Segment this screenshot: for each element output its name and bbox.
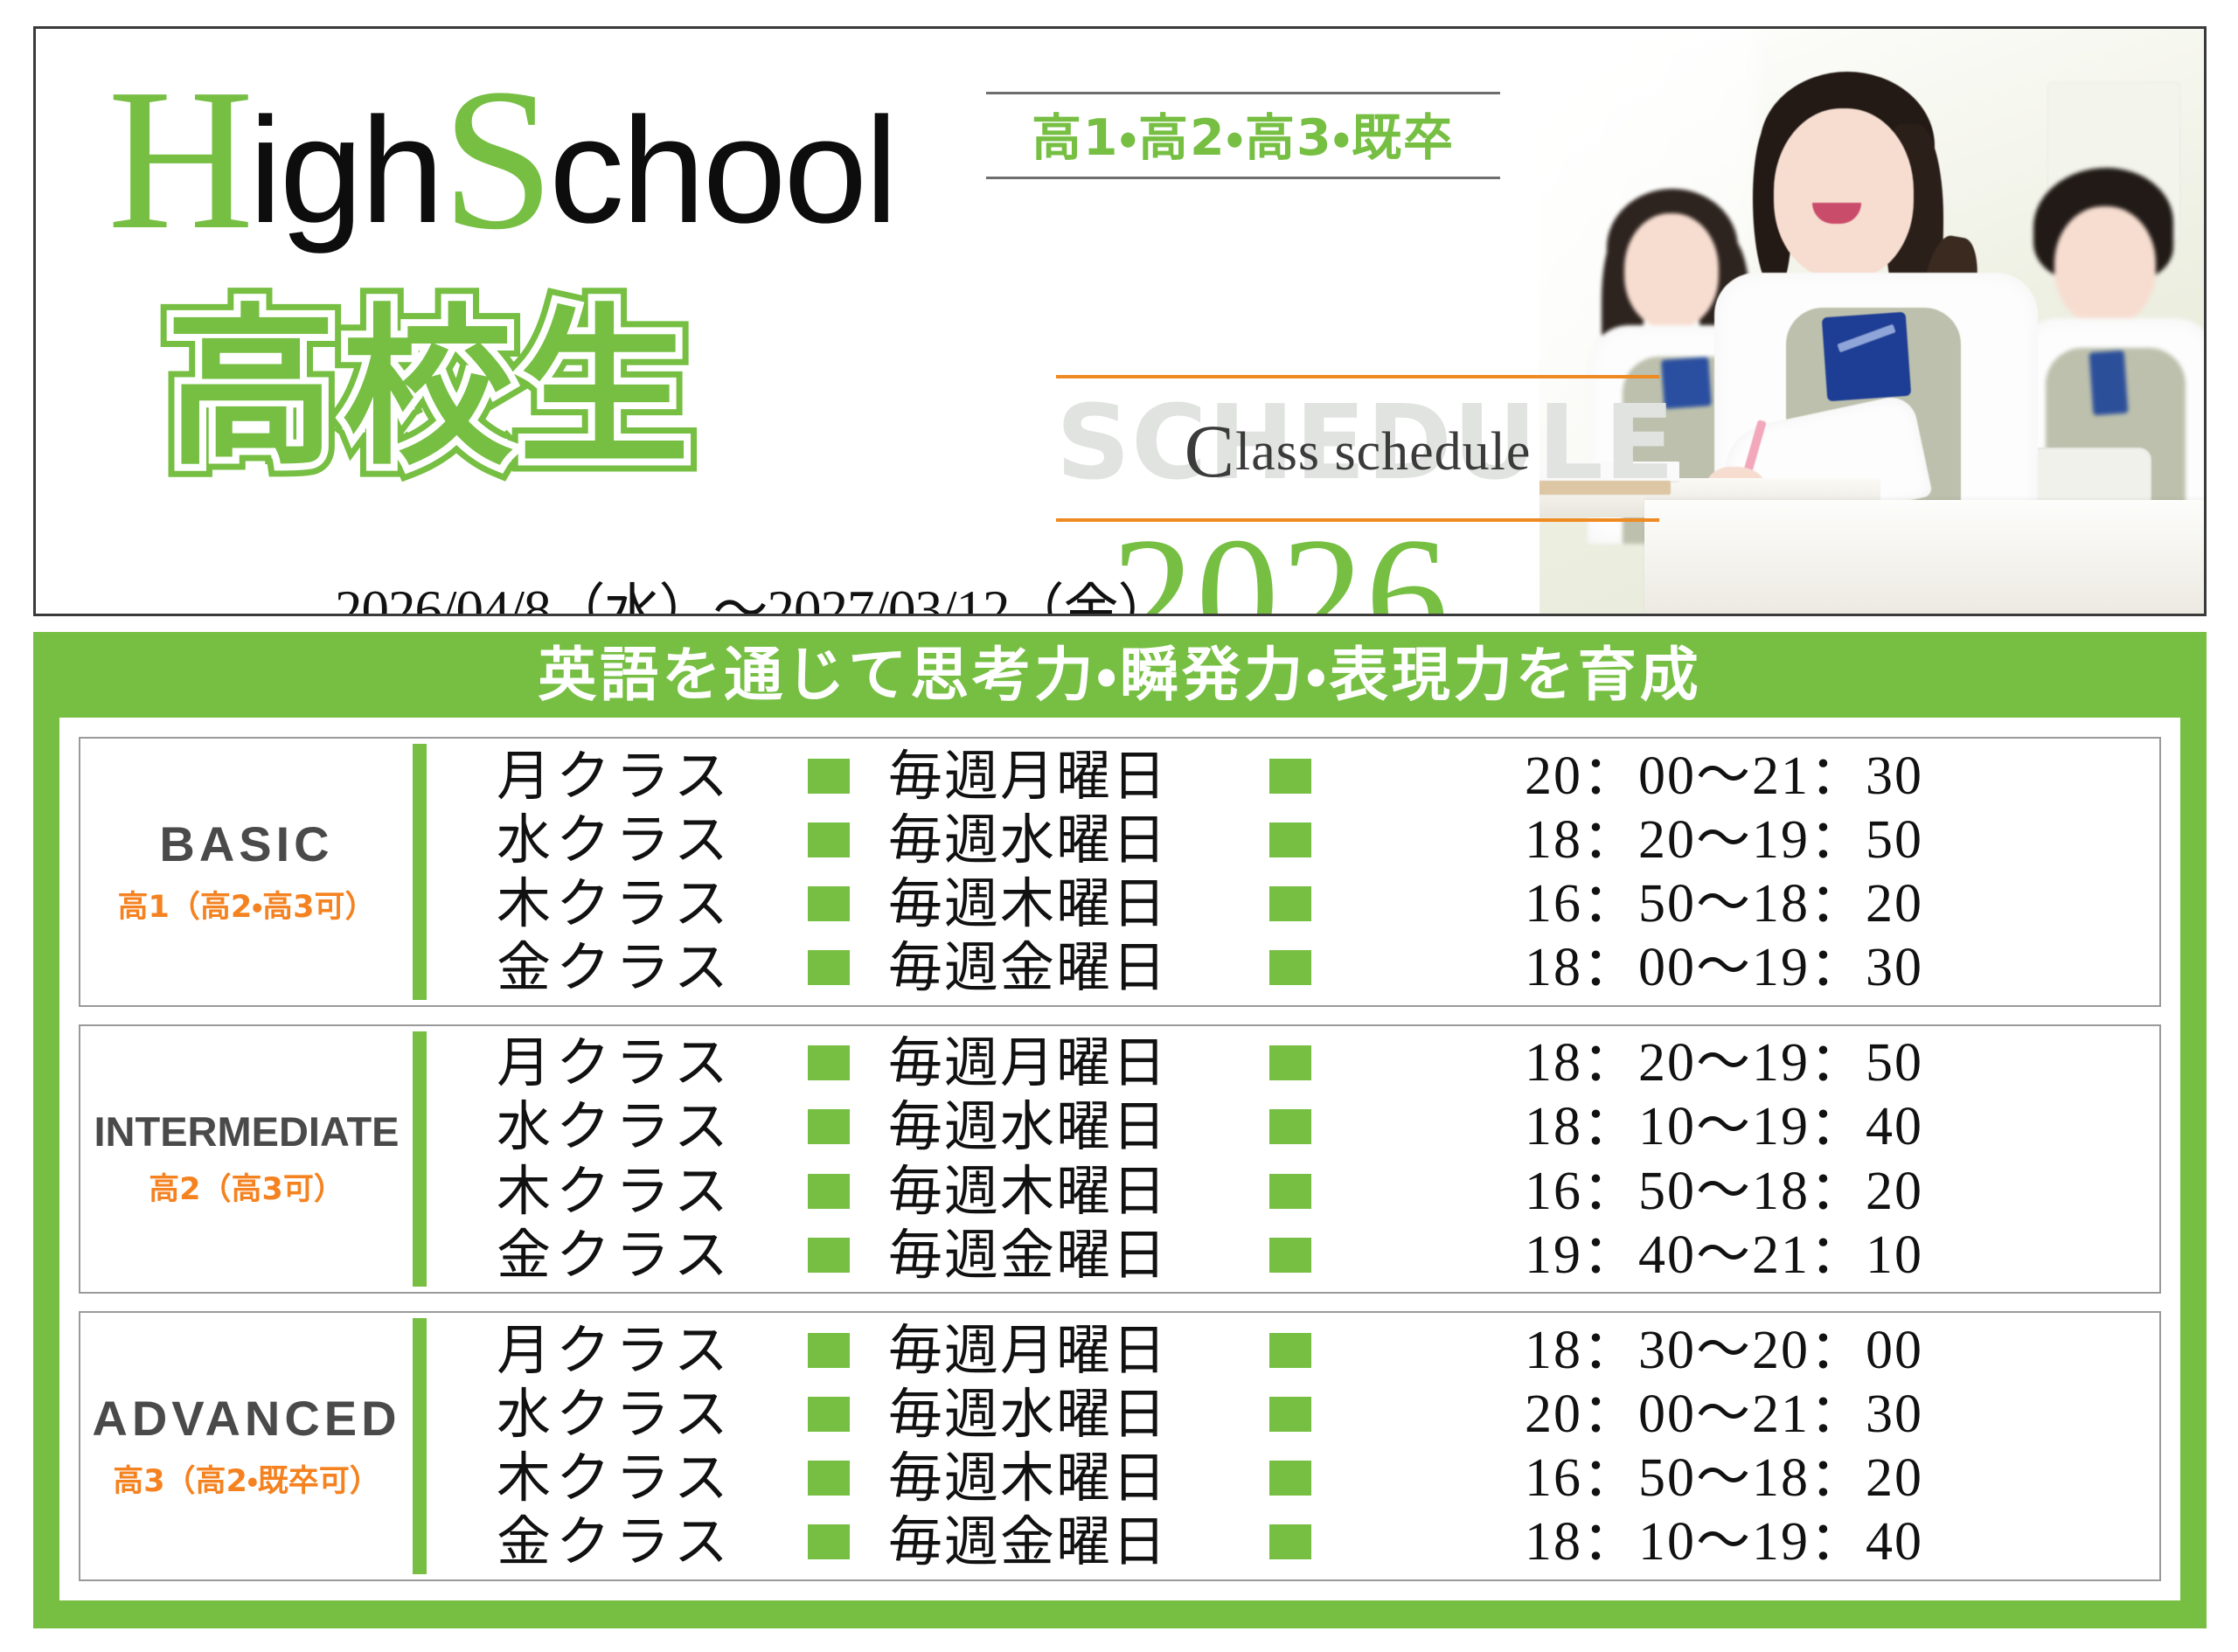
class-name-cell: 金クラス — [497, 1515, 794, 1569]
green-square-icon — [808, 886, 850, 921]
green-square-icon — [808, 1461, 850, 1496]
schedule-row: 水クラス毎週水曜日18：20〜19：50 — [427, 808, 2159, 871]
weekday-cell: 毎週木曜日 — [888, 1164, 1255, 1218]
desk-front — [1644, 500, 2204, 614]
level-eligibility: 高2（高3可） — [149, 1164, 344, 1209]
page-title: HighSchool — [108, 59, 895, 261]
weekday-cell: 毎週水曜日 — [888, 1100, 1255, 1154]
time-cell: 16：50〜18：20 — [1350, 1451, 2159, 1505]
time-cell: 18：10〜19：40 — [1350, 1100, 2159, 1154]
level-card: INTERMEDIATE高2（高3可）月クラス毎週月曜日18：20〜19：50水… — [79, 1024, 2161, 1295]
class-schedule-text: Class schedule — [1056, 413, 1659, 489]
level-header: INTERMEDIATE高2（高3可） — [80, 1026, 413, 1293]
class-name-cell: 金クラス — [497, 1228, 794, 1282]
ribbon-tie — [1822, 312, 1911, 401]
green-square-icon — [808, 1333, 850, 1368]
green-square-icon — [1269, 1045, 1311, 1080]
schedule-row: 木クラス毎週木曜日16：50〜18：20 — [427, 871, 2159, 935]
grade-tag-label: 高1・高2・高3・既卒 — [1032, 109, 1455, 167]
level-header: BASIC高1（高2・高3可） — [80, 739, 413, 1005]
time-cell: 18：20〜19：50 — [1350, 1036, 2159, 1090]
level-card: ADVANCED高3（高2・既卒可）月クラス毎週月曜日18：30〜20：00水ク… — [79, 1311, 2161, 1581]
title-igh: igh — [249, 87, 442, 254]
green-square-icon — [1269, 886, 1311, 921]
time-cell: 20：00〜21：30 — [1350, 749, 2159, 803]
level-name: BASIC — [159, 817, 333, 871]
face — [2054, 206, 2156, 325]
tagline-text: 英語を通じて思考力・瞬発力・表現力を育成 — [538, 646, 1702, 705]
face — [1624, 213, 1719, 329]
classroom-photo — [1539, 29, 2204, 614]
time-cell: 20：00〜21：30 — [1350, 1387, 2159, 1441]
title-h-cap: H — [108, 47, 249, 272]
level-eligibility: 高1（高2・高3可） — [118, 882, 376, 927]
schedule-row: 水クラス毎週水曜日18：10〜19：40 — [427, 1095, 2159, 1159]
weekday-cell: 毎週水曜日 — [888, 813, 1255, 867]
green-square-icon — [808, 1109, 850, 1144]
schedule-body: BASIC高1（高2・高3可）月クラス毎週月曜日20：00〜21：30水クラス毎… — [59, 718, 2180, 1600]
green-square-icon — [1269, 950, 1311, 985]
green-square-icon — [1269, 1397, 1311, 1432]
schedule-frame: 英語を通じて思考力・瞬発力・表現力を育成 BASIC高1（高2・高3可）月クラス… — [33, 632, 2207, 1628]
green-square-icon — [1269, 1333, 1311, 1368]
green-square-icon — [808, 759, 850, 794]
year-label: 2026 — [1111, 513, 1450, 616]
green-square-icon — [808, 1238, 850, 1273]
title-block: HighSchool 高1・高2・高3・既卒 高校生 高校生 高校生 2026/… — [81, 50, 1567, 592]
class-name-cell: 木クラス — [497, 1451, 794, 1505]
schedule-wordmark: SCHEDULE Class schedule — [1056, 375, 1659, 522]
class-name-cell: 木クラス — [497, 1164, 794, 1218]
level-divider — [413, 1318, 427, 1574]
class-name-cell: 月クラス — [497, 1036, 794, 1090]
level-name: INTERMEDIATE — [94, 1109, 399, 1155]
class-name-cell: 月クラス — [497, 749, 794, 803]
tagline-banner: 英語を通じて思考力・瞬発力・表現力を育成 — [33, 632, 2207, 718]
level-divider — [413, 1031, 427, 1288]
level-rows: 月クラス毎週月曜日18：30〜20：00水クラス毎週水曜日20：00〜21：30… — [427, 1313, 2159, 1579]
green-square-icon — [1269, 1174, 1311, 1209]
class-schedule-cap: C — [1185, 409, 1235, 493]
level-rows: 月クラス毎週月曜日20：00〜21：30水クラス毎週水曜日18：20〜19：50… — [427, 739, 2159, 1005]
header-panel: HighSchool 高1・高2・高3・既卒 高校生 高校生 高校生 2026/… — [33, 26, 2207, 616]
time-cell: 19：40〜21：10 — [1350, 1228, 2159, 1282]
green-square-icon — [1269, 1238, 1311, 1273]
schedule-row: 水クラス毎週水曜日20：00〜21：30 — [427, 1383, 2159, 1447]
grade-tag: 高1・高2・高3・既卒 — [986, 92, 1500, 179]
level-rows: 月クラス毎週月曜日18：20〜19：50水クラス毎週水曜日18：10〜19：40… — [427, 1026, 2159, 1293]
schedule-row: 月クラス毎週月曜日20：00〜21：30 — [427, 744, 2159, 808]
schedule-row: 月クラス毎週月曜日18：30〜20：00 — [427, 1318, 2159, 1382]
level-card: BASIC高1（高2・高3可）月クラス毎週月曜日20：00〜21：30水クラス毎… — [79, 737, 2161, 1007]
weekday-cell: 毎週金曜日 — [888, 941, 1255, 995]
level-name: ADVANCED — [92, 1392, 400, 1446]
title-chool: chool — [549, 87, 895, 254]
time-cell: 16：50〜18：20 — [1350, 877, 2159, 931]
time-cell: 18：10〜19：40 — [1350, 1515, 2159, 1569]
weekday-cell: 毎週月曜日 — [888, 1323, 1255, 1378]
weekday-cell: 毎週月曜日 — [888, 1036, 1255, 1090]
class-schedule-rest: lass schedule — [1235, 422, 1531, 482]
time-cell: 18：20〜19：50 — [1350, 813, 2159, 867]
class-name-cell: 金クラス — [497, 941, 794, 995]
class-name-cell: 木クラス — [497, 877, 794, 931]
level-header: ADVANCED高3（高2・既卒可） — [80, 1313, 413, 1579]
green-square-icon — [1269, 1524, 1311, 1559]
level-card-list: BASIC高1（高2・高3可）月クラス毎週月曜日20：00〜21：30水クラス毎… — [79, 737, 2161, 1581]
date-range: 2026/04/8（水）～2027/03/12（金） — [335, 566, 1172, 616]
green-square-icon — [808, 950, 850, 985]
green-square-icon — [1269, 823, 1311, 857]
schedule-row: 金クラス毎週金曜日19：40〜21：10 — [427, 1223, 2159, 1287]
class-name-cell: 水クラス — [497, 813, 794, 867]
weekday-cell: 毎週木曜日 — [888, 877, 1255, 931]
weekday-cell: 毎週水曜日 — [888, 1387, 1255, 1441]
green-square-icon — [1269, 1461, 1311, 1496]
green-square-icon — [808, 823, 850, 857]
class-name-cell: 水クラス — [497, 1387, 794, 1441]
schedule-row: 金クラス毎週金曜日18：00〜19：30 — [427, 935, 2159, 999]
weekday-cell: 毎週金曜日 — [888, 1515, 1255, 1569]
face — [1774, 108, 1914, 280]
green-square-icon — [808, 1524, 850, 1559]
green-square-icon — [1269, 1109, 1311, 1144]
time-cell: 18：30〜20：00 — [1350, 1323, 2159, 1378]
time-cell: 16：50〜18：20 — [1350, 1164, 2159, 1218]
title-s-cap: S — [441, 47, 549, 272]
level-divider — [413, 744, 427, 1000]
green-square-icon — [808, 1045, 850, 1080]
weekday-cell: 毎週金曜日 — [888, 1228, 1255, 1282]
schedule-row: 月クラス毎週月曜日18：20〜19：50 — [427, 1031, 2159, 1095]
subtitle-jp: 高校生 — [165, 303, 695, 475]
schedule-row: 木クラス毎週木曜日16：50〜18：20 — [427, 1447, 2159, 1510]
weekday-cell: 毎週木曜日 — [888, 1451, 1255, 1505]
green-square-icon — [808, 1174, 850, 1209]
green-square-icon — [1269, 759, 1311, 794]
weekday-cell: 毎週月曜日 — [888, 749, 1255, 803]
class-name-cell: 月クラス — [497, 1323, 794, 1378]
green-square-icon — [808, 1397, 850, 1432]
level-eligibility: 高3（高2・既卒可） — [113, 1456, 380, 1501]
schedule-row: 木クラス毎週木曜日16：50〜18：20 — [427, 1159, 2159, 1223]
schedule-row: 金クラス毎週金曜日18：10〜19：40 — [427, 1510, 2159, 1574]
class-name-cell: 水クラス — [497, 1100, 794, 1154]
time-cell: 18：00〜19：30 — [1350, 941, 2159, 995]
necktie — [2089, 351, 2129, 416]
